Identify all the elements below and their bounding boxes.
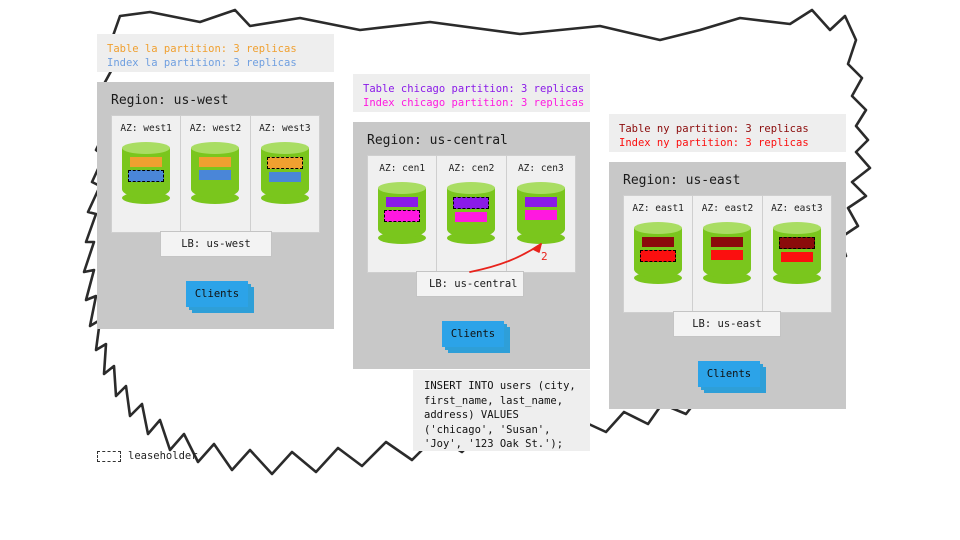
replica-bars <box>191 157 239 180</box>
replica-bar-table-leaseholder <box>267 157 303 169</box>
partition-line-index: Index chicago partition: 3 replicas <box>363 97 580 111</box>
replica-bar-index-leaseholder <box>640 250 676 262</box>
clients-us-central[interactable]: Clients <box>442 321 504 347</box>
az-cell-west3[interactable]: AZ: west3 <box>251 116 319 232</box>
leaseholder-legend-label: leaseholder <box>128 450 198 462</box>
load-balancer-us-east[interactable]: LB: us-east <box>673 311 781 337</box>
az-cell-east2[interactable]: AZ: east2 <box>693 196 762 312</box>
arrow-step-number: 2 <box>541 250 548 263</box>
replica-bar-table-leaseholder <box>779 237 815 249</box>
replica-bar-index <box>525 210 557 220</box>
az-strip-us-east: AZ: east1 AZ: east2 AZ: east3 <box>623 195 832 313</box>
cylinder-top <box>122 142 170 154</box>
replica-bar-table <box>711 237 743 247</box>
replica-bar-index <box>711 250 743 260</box>
partition-legend-us-central: Table chicago partition: 3 replicas Inde… <box>353 74 590 112</box>
cylinder-top <box>378 182 426 194</box>
az-label-east2: AZ: east2 <box>702 203 753 214</box>
clients-label-us-central: Clients <box>442 321 504 347</box>
az-label-cen2: AZ: cen2 <box>449 163 495 174</box>
replica-bars <box>378 197 426 222</box>
partition-line-index: Index la partition: 3 replicas <box>107 57 324 71</box>
replica-bar-index <box>199 170 231 180</box>
replica-bars <box>517 197 565 220</box>
partition-line-table: Table ny partition: 3 replicas <box>619 123 836 137</box>
az-strip-us-west: AZ: west1 AZ: west2 AZ: west3 <box>111 115 320 233</box>
partition-line-table: Table la partition: 3 replicas <box>107 43 324 57</box>
load-balancer-us-west[interactable]: LB: us-west <box>160 231 272 257</box>
az-label-east3: AZ: east3 <box>771 203 822 214</box>
leaseholder-swatch-icon <box>97 451 121 462</box>
replica-bar-table <box>525 197 557 207</box>
node-cylinder-west1[interactable] <box>122 142 170 204</box>
region-title-us-central: Region: us-central <box>353 122 590 157</box>
node-cylinder-east3[interactable] <box>773 222 821 284</box>
az-label-west1: AZ: west1 <box>120 123 171 134</box>
partition-line-index: Index ny partition: 3 replicas <box>619 137 836 151</box>
replica-bars <box>773 237 821 262</box>
replica-bar-table <box>130 157 162 167</box>
replica-bar-index <box>269 172 301 182</box>
load-balancer-us-central[interactable]: LB: us-central <box>416 271 524 297</box>
partition-legend-us-west: Table la partition: 3 replicas Index la … <box>97 34 334 72</box>
az-cell-west2[interactable]: AZ: west2 <box>181 116 250 232</box>
replica-bar-index <box>781 252 813 262</box>
clients-label-us-east: Clients <box>698 361 760 387</box>
node-cylinder-east1[interactable] <box>634 222 682 284</box>
replica-bar-table-leaseholder <box>453 197 489 209</box>
az-label-cen1: AZ: cen1 <box>379 163 425 174</box>
az-label-east1: AZ: east1 <box>632 203 683 214</box>
partition-line-table: Table chicago partition: 3 replicas <box>363 83 580 97</box>
replica-bars <box>261 157 309 182</box>
replica-bar-index-leaseholder <box>384 210 420 222</box>
clients-us-west[interactable]: Clients <box>186 281 248 307</box>
node-cylinder-west2[interactable] <box>191 142 239 204</box>
replica-bar-index-leaseholder <box>128 170 164 182</box>
region-title-us-east: Region: us-east <box>609 162 846 197</box>
replica-bars <box>634 237 682 262</box>
cylinder-top <box>773 222 821 234</box>
az-cell-west1[interactable]: AZ: west1 <box>112 116 181 232</box>
replica-bars <box>122 157 170 182</box>
node-cylinder-cen1[interactable] <box>378 182 426 244</box>
replica-bars <box>447 197 495 222</box>
az-label-west3: AZ: west3 <box>259 123 310 134</box>
leaseholder-legend: leaseholder <box>97 450 198 462</box>
clients-us-east[interactable]: Clients <box>698 361 760 387</box>
az-cell-cen1[interactable]: AZ: cen1 <box>368 156 437 272</box>
az-label-cen3: AZ: cen3 <box>518 163 564 174</box>
replica-bars <box>703 237 751 260</box>
node-cylinder-cen3[interactable] <box>517 182 565 244</box>
clients-label-us-west: Clients <box>186 281 248 307</box>
replica-bar-index <box>455 212 487 222</box>
sql-insert-callout: INSERT INTO users (city, first_name, las… <box>413 370 590 451</box>
node-cylinder-west3[interactable] <box>261 142 309 204</box>
az-label-west2: AZ: west2 <box>190 123 241 134</box>
az-cell-east3[interactable]: AZ: east3 <box>763 196 831 312</box>
az-cell-east1[interactable]: AZ: east1 <box>624 196 693 312</box>
az-cell-cen2[interactable]: AZ: cen2 <box>437 156 506 272</box>
cylinder-top <box>261 142 309 154</box>
replica-bar-table <box>642 237 674 247</box>
replica-bar-table <box>386 197 418 207</box>
node-cylinder-east2[interactable] <box>703 222 751 284</box>
cylinder-top <box>517 182 565 194</box>
node-cylinder-cen2[interactable] <box>447 182 495 244</box>
region-title-us-west: Region: us-west <box>97 82 334 117</box>
replica-bar-table <box>199 157 231 167</box>
cylinder-top <box>634 222 682 234</box>
partition-legend-us-east: Table ny partition: 3 replicas Index ny … <box>609 114 846 152</box>
